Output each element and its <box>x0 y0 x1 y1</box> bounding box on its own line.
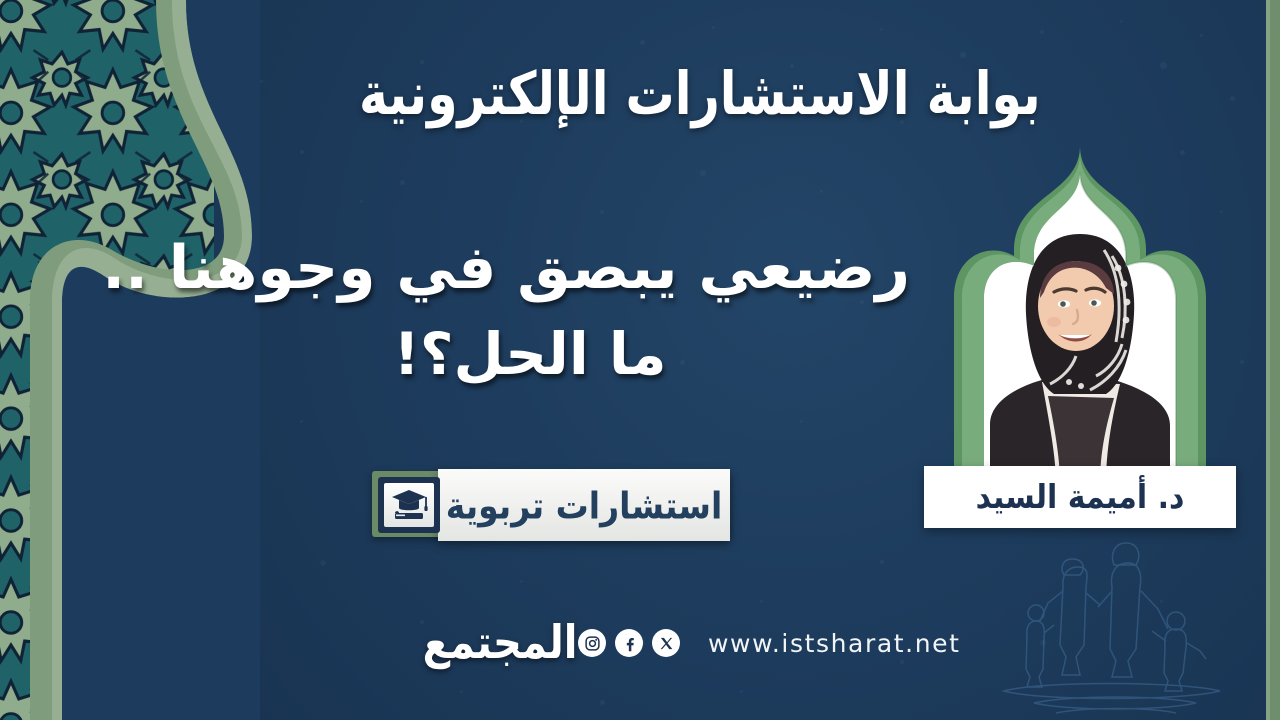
footer-bar: المجتمع www.istsharat.net <box>440 608 1000 678</box>
family-line-art-icon <box>1000 525 1270 720</box>
brand-logo: المجتمع <box>440 606 560 680</box>
expert-photo <box>984 172 1176 484</box>
expert-portrait: د. أميمة السيد <box>930 138 1230 536</box>
badge-plate: استشارات تربوية <box>438 469 730 541</box>
header-calligraphy-text: بوابة الاستشارات الإلكترونية <box>359 60 1041 128</box>
expert-name: د. أميمة السيد <box>976 478 1185 517</box>
graduation-cap-book-icon <box>389 488 429 522</box>
facebook-icon[interactable] <box>615 629 643 657</box>
social-links <box>578 629 680 657</box>
website-url[interactable]: www.istsharat.net <box>708 629 961 658</box>
banner-canvas: بوابة الاستشارات الإلكترونية رضيعي يبصق … <box>0 0 1280 720</box>
header-calligraphy: بوابة الاستشارات الإلكترونية <box>400 34 1000 154</box>
badge-icon-box <box>378 477 440 533</box>
instagram-icon[interactable] <box>578 629 606 657</box>
expert-name-plate: د. أميمة السيد <box>924 466 1236 528</box>
title-line-2: ما الحل؟! <box>150 312 910 396</box>
badge-label: استشارات تربوية <box>446 483 723 527</box>
title-line-1: رضيعي يبصق في وجوهنا .. <box>150 225 910 312</box>
x-icon[interactable] <box>652 629 680 657</box>
page-title: رضيعي يبصق في وجوهنا .. ما الحل؟! <box>150 225 910 396</box>
category-badge: استشارات تربوية <box>372 469 730 543</box>
